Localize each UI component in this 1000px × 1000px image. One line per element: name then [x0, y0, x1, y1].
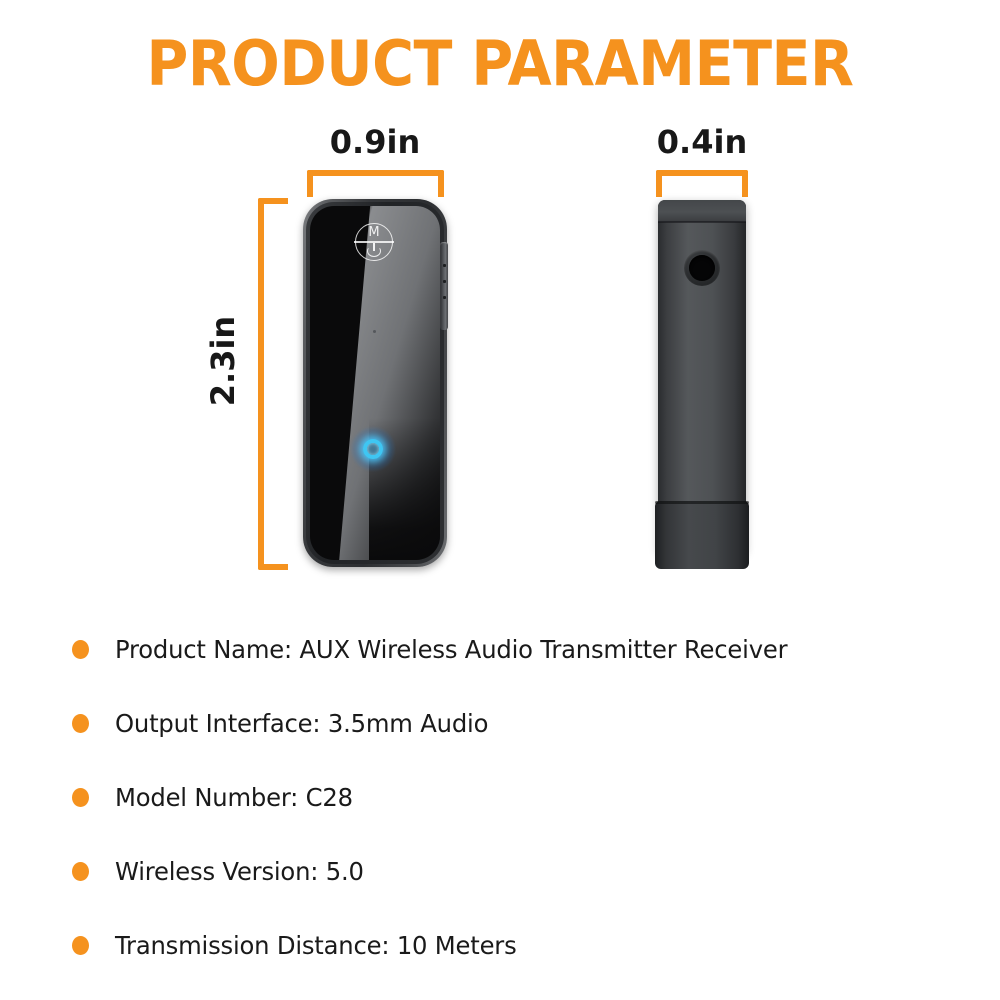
device-clip: [655, 501, 749, 569]
side-button-notch: [443, 296, 446, 299]
side-button-notch: [443, 280, 446, 283]
dimension-label-height: 2.3in: [207, 306, 239, 416]
bullet-icon: [72, 788, 89, 807]
bullet-icon: [72, 714, 89, 733]
dimension-label-depth: 0.4in: [646, 126, 758, 158]
spec-item-model-number: Model Number: C28: [0, 760, 1000, 834]
spec-label: Output Interface: 3.5mm Audio: [115, 709, 488, 738]
power-icon-bar: [373, 243, 375, 251]
mode-power-button[interactable]: M: [355, 223, 393, 261]
device-side-body: [658, 200, 746, 552]
bullet-icon: [72, 862, 89, 881]
device-top-cap: [658, 200, 746, 222]
product-parameter-infographic: PRODUCT PARAMETER 0.9in 0.4in 2.3in M: [0, 0, 1000, 1000]
spec-item-wireless-version: Wireless Version: 5.0: [0, 834, 1000, 908]
side-button-notch: [443, 264, 446, 267]
microphone-icon: [373, 330, 376, 333]
device-clip-seam: [655, 501, 749, 504]
spec-list: Product Name: AUX Wireless Audio Transmi…: [0, 612, 1000, 982]
side-volume-button[interactable]: [440, 242, 448, 330]
dimension-bracket-height: [258, 198, 288, 570]
dimension-bracket-depth: [656, 170, 748, 197]
page-title: PRODUCT PARAMETER: [40, 33, 960, 95]
spec-label: Wireless Version: 5.0: [115, 857, 364, 886]
device-front-view: M: [303, 199, 447, 567]
spec-item-transmission-distance: Transmission Distance: 10 Meters: [0, 908, 1000, 982]
spec-item-output-interface: Output Interface: 3.5mm Audio: [0, 686, 1000, 760]
audio-jack-icon: [684, 250, 720, 286]
device-side-view: [654, 196, 750, 574]
led-ring: [363, 439, 383, 459]
bullet-icon: [72, 640, 89, 659]
spec-item-product-name: Product Name: AUX Wireless Audio Transmi…: [0, 612, 1000, 686]
bullet-icon: [72, 936, 89, 955]
dimension-label-width: 0.9in: [307, 126, 443, 158]
dimension-bracket-width: [307, 170, 444, 197]
audio-jack-hole: [689, 255, 715, 281]
power-icon: [367, 243, 381, 257]
spec-label: Transmission Distance: 10 Meters: [115, 931, 517, 960]
mode-letter-m: M: [356, 226, 392, 239]
device-top-seam: [658, 221, 746, 223]
spec-label: Model Number: C28: [115, 783, 353, 812]
spec-label: Product Name: AUX Wireless Audio Transmi…: [115, 635, 787, 664]
led-status-indicator: [351, 427, 395, 471]
